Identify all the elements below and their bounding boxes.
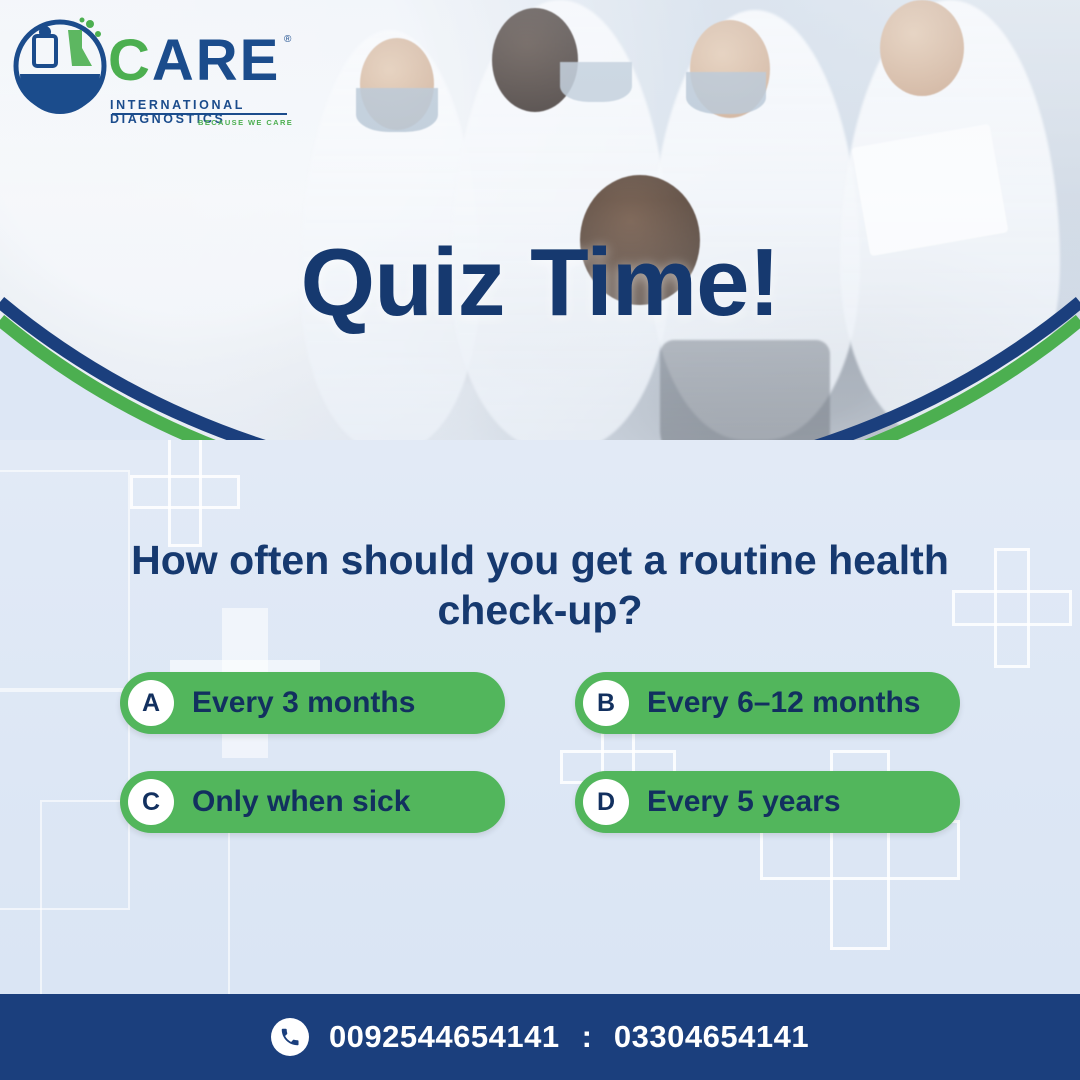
option-text-b: Every 6–12 months [647, 686, 920, 720]
option-letter-d: D [583, 779, 629, 825]
phone-primary[interactable]: 0092544654141 [329, 1019, 560, 1055]
brand-name: CARE [108, 32, 280, 90]
cross-decoration [168, 440, 202, 547]
hexagon-decoration [40, 800, 230, 1020]
microscope-flask-icon [12, 14, 108, 122]
option-letter-a: A [128, 680, 174, 726]
option-text-d: Every 5 years [647, 785, 841, 819]
quiz-option-c[interactable]: C Only when sick [120, 771, 505, 833]
phone-secondary[interactable]: 03304654141 [614, 1019, 809, 1055]
footer-contact-bar: 0092544654141 : 03304654141 [0, 994, 1080, 1080]
option-text-a: Every 3 months [192, 686, 415, 720]
brand-name-first-letter: C [108, 28, 152, 93]
quiz-option-a[interactable]: A Every 3 months [120, 672, 505, 734]
quiz-option-b[interactable]: B Every 6–12 months [575, 672, 960, 734]
brand-logo[interactable]: CARE ® INTERNATIONAL DIAGNOSTICS BECAUSE… [12, 14, 302, 126]
phone-separator: : [582, 1019, 592, 1055]
brand-tagline: BECAUSE WE CARE [198, 118, 293, 127]
option-letter-b: B [583, 680, 629, 726]
brand-name-rest: ARE [152, 28, 280, 93]
quiz-question: How often should you get a routine healt… [90, 535, 990, 635]
quiz-options: A Every 3 months B Every 6–12 months C O… [120, 672, 960, 833]
phone-icon [271, 1018, 309, 1056]
option-letter-c: C [128, 779, 174, 825]
page-title: Quiz Time! [0, 228, 1080, 338]
registered-mark: ® [284, 34, 291, 45]
cross-decoration [994, 548, 1030, 668]
option-text-c: Only when sick [192, 785, 410, 819]
phone-glyph [279, 1026, 301, 1048]
quiz-panel: How often should you get a routine healt… [0, 440, 1080, 1080]
quiz-option-d[interactable]: D Every 5 years [575, 771, 960, 833]
